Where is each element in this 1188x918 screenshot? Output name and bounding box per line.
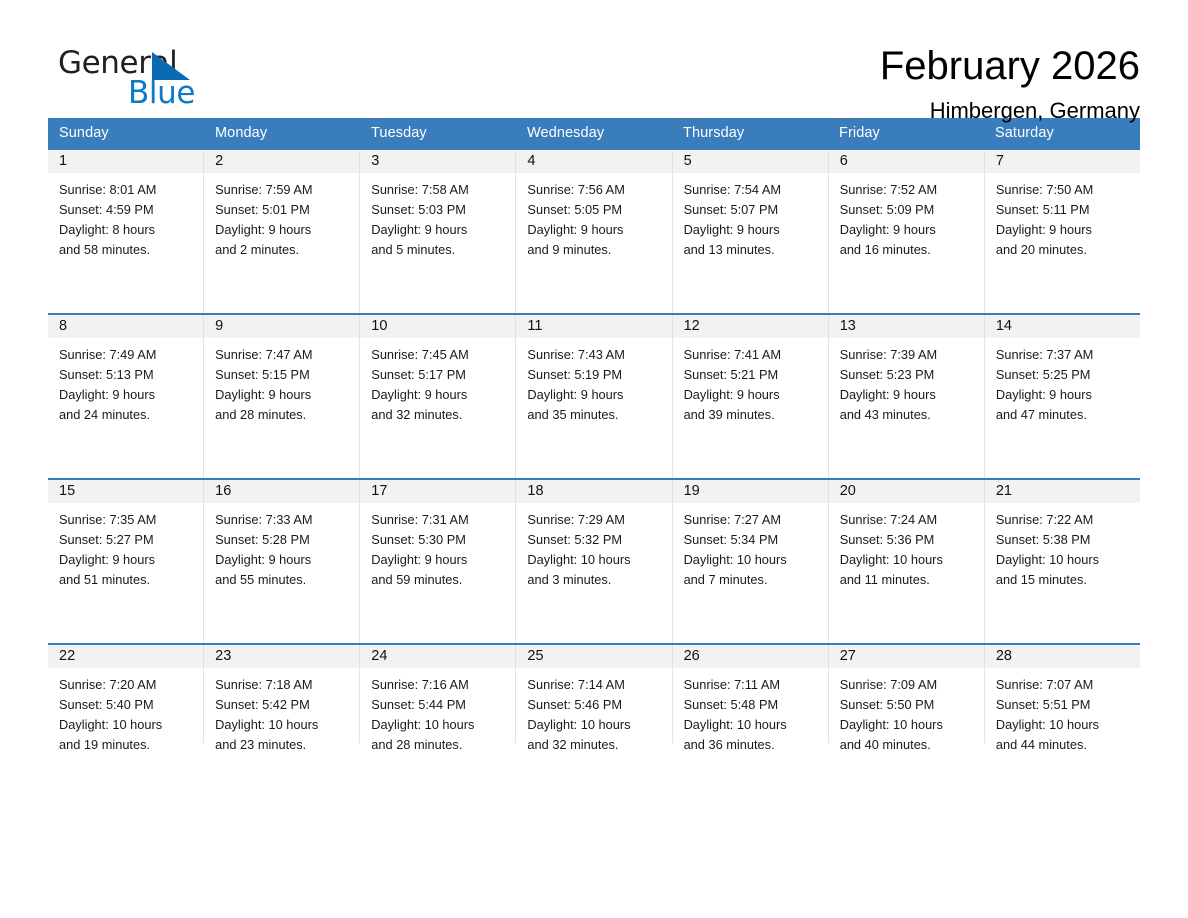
day-cell[interactable]: 9 Sunrise: 7:47 AM Sunset: 5:15 PM Dayli… <box>204 315 360 478</box>
daylight-text-line1: Daylight: 10 hours <box>840 550 978 570</box>
day-number: 1 <box>48 150 203 173</box>
sunrise-text: Sunrise: 7:45 AM <box>371 345 509 365</box>
daylight-text-line1: Daylight: 10 hours <box>371 715 509 735</box>
daylight-text-line1: Daylight: 9 hours <box>371 220 509 240</box>
sunset-text: Sunset: 5:28 PM <box>215 530 353 550</box>
logo-text-blue: Blue <box>128 78 195 109</box>
day-info: Sunrise: 7:45 AM Sunset: 5:17 PM Dayligh… <box>360 338 515 425</box>
sunrise-text: Sunrise: 7:20 AM <box>59 675 197 695</box>
sunrise-text: Sunrise: 7:39 AM <box>840 345 978 365</box>
daylight-text-line1: Daylight: 10 hours <box>840 715 978 735</box>
day-cell[interactable]: 26 Sunrise: 7:11 AM Sunset: 5:48 PM Dayl… <box>673 645 829 743</box>
sunset-text: Sunset: 5:03 PM <box>371 200 509 220</box>
sunrise-text: Sunrise: 7:41 AM <box>684 345 822 365</box>
day-cell[interactable]: 27 Sunrise: 7:09 AM Sunset: 5:50 PM Dayl… <box>829 645 985 743</box>
sunset-text: Sunset: 5:07 PM <box>684 200 822 220</box>
day-number: 10 <box>360 315 515 338</box>
daylight-text-line2: and 58 minutes. <box>59 240 197 260</box>
daylight-text-line2: and 15 minutes. <box>996 570 1134 590</box>
day-number: 20 <box>829 480 984 503</box>
day-number: 22 <box>48 645 203 668</box>
weekday-header-sunday: Sunday <box>48 125 204 141</box>
daylight-text-line2: and 2 minutes. <box>215 240 353 260</box>
day-info: Sunrise: 7:41 AM Sunset: 5:21 PM Dayligh… <box>673 338 828 425</box>
sunrise-text: Sunrise: 7:14 AM <box>527 675 665 695</box>
daylight-text-line1: Daylight: 9 hours <box>371 385 509 405</box>
daylight-text-line1: Daylight: 9 hours <box>840 220 978 240</box>
daylight-text-line1: Daylight: 9 hours <box>215 385 353 405</box>
day-number: 23 <box>204 645 359 668</box>
sunset-text: Sunset: 5:44 PM <box>371 695 509 715</box>
page-header: General Blue February 2026 Himbergen, Ge… <box>48 0 1140 105</box>
day-cell[interactable]: 6 Sunrise: 7:52 AM Sunset: 5:09 PM Dayli… <box>829 150 985 313</box>
sunset-text: Sunset: 5:23 PM <box>840 365 978 385</box>
day-number: 19 <box>673 480 828 503</box>
sunrise-text: Sunrise: 7:58 AM <box>371 180 509 200</box>
day-cell[interactable]: 16 Sunrise: 7:33 AM Sunset: 5:28 PM Dayl… <box>204 480 360 643</box>
general-blue-logo[interactable]: General Blue <box>48 42 228 112</box>
daylight-text-line2: and 32 minutes. <box>371 405 509 425</box>
weekday-header-saturday: Saturday <box>984 125 1140 141</box>
daylight-text-line2: and 47 minutes. <box>996 405 1134 425</box>
week-row: 22 Sunrise: 7:20 AM Sunset: 5:40 PM Dayl… <box>48 643 1140 743</box>
day-number: 12 <box>673 315 828 338</box>
day-cell[interactable]: 12 Sunrise: 7:41 AM Sunset: 5:21 PM Dayl… <box>673 315 829 478</box>
day-number: 11 <box>516 315 671 338</box>
sunrise-text: Sunrise: 7:50 AM <box>996 180 1134 200</box>
day-cell[interactable]: 10 Sunrise: 7:45 AM Sunset: 5:17 PM Dayl… <box>360 315 516 478</box>
sunset-text: Sunset: 5:25 PM <box>996 365 1134 385</box>
day-cell[interactable]: 13 Sunrise: 7:39 AM Sunset: 5:23 PM Dayl… <box>829 315 985 478</box>
day-number: 15 <box>48 480 203 503</box>
daylight-text-line2: and 55 minutes. <box>215 570 353 590</box>
day-number: 6 <box>829 150 984 173</box>
day-cell[interactable]: 22 Sunrise: 7:20 AM Sunset: 5:40 PM Dayl… <box>48 645 204 743</box>
week-row: 8 Sunrise: 7:49 AM Sunset: 5:13 PM Dayli… <box>48 313 1140 478</box>
sunrise-text: Sunrise: 7:22 AM <box>996 510 1134 530</box>
daylight-text-line1: Daylight: 9 hours <box>371 550 509 570</box>
day-info: Sunrise: 7:54 AM Sunset: 5:07 PM Dayligh… <box>673 173 828 260</box>
daylight-text-line1: Daylight: 9 hours <box>996 385 1134 405</box>
page-title: February 2026 <box>880 44 1140 89</box>
sunset-text: Sunset: 5:50 PM <box>840 695 978 715</box>
day-number: 14 <box>985 315 1140 338</box>
sunset-text: Sunset: 5:40 PM <box>59 695 197 715</box>
daylight-text-line1: Daylight: 9 hours <box>59 385 197 405</box>
sunset-text: Sunset: 5:21 PM <box>684 365 822 385</box>
day-cell[interactable]: 24 Sunrise: 7:16 AM Sunset: 5:44 PM Dayl… <box>360 645 516 743</box>
daylight-text-line1: Daylight: 9 hours <box>527 385 665 405</box>
day-number: 3 <box>360 150 515 173</box>
daylight-text-line1: Daylight: 9 hours <box>684 220 822 240</box>
day-number: 7 <box>985 150 1140 173</box>
day-info: Sunrise: 7:49 AM Sunset: 5:13 PM Dayligh… <box>48 338 203 425</box>
sunset-text: Sunset: 5:48 PM <box>684 695 822 715</box>
sunrise-text: Sunrise: 7:54 AM <box>684 180 822 200</box>
sunrise-text: Sunrise: 7:52 AM <box>840 180 978 200</box>
day-number: 9 <box>204 315 359 338</box>
sunset-text: Sunset: 5:01 PM <box>215 200 353 220</box>
calendar-page: General Blue February 2026 Himbergen, Ge… <box>0 0 1188 918</box>
daylight-text-line1: Daylight: 10 hours <box>527 715 665 735</box>
daylight-text-line2: and 5 minutes. <box>371 240 509 260</box>
sunset-text: Sunset: 5:11 PM <box>996 200 1134 220</box>
daylight-text-line1: Daylight: 10 hours <box>527 550 665 570</box>
day-info: Sunrise: 7:59 AM Sunset: 5:01 PM Dayligh… <box>204 173 359 260</box>
daylight-text-line1: Daylight: 9 hours <box>840 385 978 405</box>
day-info: Sunrise: 7:56 AM Sunset: 5:05 PM Dayligh… <box>516 173 671 260</box>
day-number: 8 <box>48 315 203 338</box>
day-cell[interactable]: 28 Sunrise: 7:07 AM Sunset: 5:51 PM Dayl… <box>985 645 1140 743</box>
day-info: Sunrise: 7:24 AM Sunset: 5:36 PM Dayligh… <box>829 503 984 590</box>
day-cell[interactable]: 5 Sunrise: 7:54 AM Sunset: 5:07 PM Dayli… <box>673 150 829 313</box>
sunset-text: Sunset: 5:46 PM <box>527 695 665 715</box>
day-cell[interactable]: 17 Sunrise: 7:31 AM Sunset: 5:30 PM Dayl… <box>360 480 516 643</box>
day-number: 21 <box>985 480 1140 503</box>
day-cell[interactable]: 18 Sunrise: 7:29 AM Sunset: 5:32 PM Dayl… <box>516 480 672 643</box>
sunrise-text: Sunrise: 8:01 AM <box>59 180 197 200</box>
daylight-text-line2: and 16 minutes. <box>840 240 978 260</box>
day-info: Sunrise: 7:29 AM Sunset: 5:32 PM Dayligh… <box>516 503 671 590</box>
sunrise-text: Sunrise: 7:11 AM <box>684 675 822 695</box>
daylight-text-line1: Daylight: 9 hours <box>215 220 353 240</box>
daylight-text-line2: and 20 minutes. <box>996 240 1134 260</box>
daylight-text-line2: and 7 minutes. <box>684 570 822 590</box>
day-info: Sunrise: 7:43 AM Sunset: 5:19 PM Dayligh… <box>516 338 671 425</box>
day-number: 16 <box>204 480 359 503</box>
day-number: 4 <box>516 150 671 173</box>
daylight-text-line2: and 40 minutes. <box>840 735 978 755</box>
weekday-header-friday: Friday <box>828 125 984 141</box>
sunrise-text: Sunrise: 7:49 AM <box>59 345 197 365</box>
daylight-text-line1: Daylight: 10 hours <box>215 715 353 735</box>
weekday-header-monday: Monday <box>204 125 360 141</box>
sunset-text: Sunset: 5:27 PM <box>59 530 197 550</box>
weekday-header-tuesday: Tuesday <box>360 125 516 141</box>
day-cell[interactable]: 23 Sunrise: 7:18 AM Sunset: 5:42 PM Dayl… <box>204 645 360 743</box>
sunset-text: Sunset: 5:32 PM <box>527 530 665 550</box>
calendar-grid: Sunday Monday Tuesday Wednesday Thursday… <box>48 118 1140 743</box>
sunset-text: Sunset: 4:59 PM <box>59 200 197 220</box>
daylight-text-line2: and 24 minutes. <box>59 405 197 425</box>
daylight-text-line2: and 51 minutes. <box>59 570 197 590</box>
day-number: 24 <box>360 645 515 668</box>
sunrise-text: Sunrise: 7:33 AM <box>215 510 353 530</box>
sunset-text: Sunset: 5:19 PM <box>527 365 665 385</box>
daylight-text-line2: and 3 minutes. <box>527 570 665 590</box>
daylight-text-line2: and 44 minutes. <box>996 735 1134 755</box>
daylight-text-line2: and 9 minutes. <box>527 240 665 260</box>
day-number: 18 <box>516 480 671 503</box>
daylight-text-line2: and 43 minutes. <box>840 405 978 425</box>
daylight-text-line1: Daylight: 9 hours <box>684 385 822 405</box>
day-cell[interactable]: 25 Sunrise: 7:14 AM Sunset: 5:46 PM Dayl… <box>516 645 672 743</box>
day-info: Sunrise: 7:39 AM Sunset: 5:23 PM Dayligh… <box>829 338 984 425</box>
sunset-text: Sunset: 5:13 PM <box>59 365 197 385</box>
day-info: Sunrise: 7:11 AM Sunset: 5:48 PM Dayligh… <box>673 668 828 755</box>
sunset-text: Sunset: 5:42 PM <box>215 695 353 715</box>
day-cell[interactable]: 20 Sunrise: 7:24 AM Sunset: 5:36 PM Dayl… <box>829 480 985 643</box>
day-cell[interactable]: 3 Sunrise: 7:58 AM Sunset: 5:03 PM Dayli… <box>360 150 516 313</box>
day-info: Sunrise: 7:37 AM Sunset: 5:25 PM Dayligh… <box>985 338 1140 425</box>
day-cell[interactable]: 8 Sunrise: 7:49 AM Sunset: 5:13 PM Dayli… <box>48 315 204 478</box>
sunset-text: Sunset: 5:17 PM <box>371 365 509 385</box>
day-info: Sunrise: 7:47 AM Sunset: 5:15 PM Dayligh… <box>204 338 359 425</box>
weekday-header-wednesday: Wednesday <box>516 125 672 141</box>
day-info: Sunrise: 7:09 AM Sunset: 5:50 PM Dayligh… <box>829 668 984 755</box>
sunset-text: Sunset: 5:15 PM <box>215 365 353 385</box>
day-number: 26 <box>673 645 828 668</box>
sunset-text: Sunset: 5:38 PM <box>996 530 1134 550</box>
sunrise-text: Sunrise: 7:43 AM <box>527 345 665 365</box>
day-cell[interactable]: 14 Sunrise: 7:37 AM Sunset: 5:25 PM Dayl… <box>985 315 1140 478</box>
sunrise-text: Sunrise: 7:47 AM <box>215 345 353 365</box>
sunrise-text: Sunrise: 7:07 AM <box>996 675 1134 695</box>
daylight-text-line1: Daylight: 10 hours <box>996 715 1134 735</box>
sunrise-text: Sunrise: 7:18 AM <box>215 675 353 695</box>
day-cell[interactable]: 19 Sunrise: 7:27 AM Sunset: 5:34 PM Dayl… <box>673 480 829 643</box>
day-number: 13 <box>829 315 984 338</box>
daylight-text-line2: and 32 minutes. <box>527 735 665 755</box>
sunset-text: Sunset: 5:30 PM <box>371 530 509 550</box>
daylight-text-line1: Daylight: 10 hours <box>684 715 822 735</box>
week-row: 15 Sunrise: 7:35 AM Sunset: 5:27 PM Dayl… <box>48 478 1140 643</box>
sunrise-text: Sunrise: 7:29 AM <box>527 510 665 530</box>
daylight-text-line2: and 36 minutes. <box>684 735 822 755</box>
daylight-text-line1: Daylight: 10 hours <box>996 550 1134 570</box>
sunrise-text: Sunrise: 7:27 AM <box>684 510 822 530</box>
sunset-text: Sunset: 5:05 PM <box>527 200 665 220</box>
day-info: Sunrise: 7:35 AM Sunset: 5:27 PM Dayligh… <box>48 503 203 590</box>
daylight-text-line1: Daylight: 10 hours <box>684 550 822 570</box>
day-number: 2 <box>204 150 359 173</box>
daylight-text-line2: and 28 minutes. <box>215 405 353 425</box>
sunset-text: Sunset: 5:09 PM <box>840 200 978 220</box>
day-info: Sunrise: 7:22 AM Sunset: 5:38 PM Dayligh… <box>985 503 1140 590</box>
day-info: Sunrise: 7:27 AM Sunset: 5:34 PM Dayligh… <box>673 503 828 590</box>
day-number: 25 <box>516 645 671 668</box>
day-info: Sunrise: 7:16 AM Sunset: 5:44 PM Dayligh… <box>360 668 515 755</box>
daylight-text-line2: and 23 minutes. <box>215 735 353 755</box>
day-info: Sunrise: 7:58 AM Sunset: 5:03 PM Dayligh… <box>360 173 515 260</box>
sunrise-text: Sunrise: 7:35 AM <box>59 510 197 530</box>
daylight-text-line2: and 39 minutes. <box>684 405 822 425</box>
day-number: 27 <box>829 645 984 668</box>
day-cell[interactable]: 7 Sunrise: 7:50 AM Sunset: 5:11 PM Dayli… <box>985 150 1140 313</box>
location-subtitle: Himbergen, Germany <box>880 98 1140 124</box>
day-info: Sunrise: 7:31 AM Sunset: 5:30 PM Dayligh… <box>360 503 515 590</box>
daylight-text-line1: Daylight: 9 hours <box>215 550 353 570</box>
day-info: Sunrise: 7:18 AM Sunset: 5:42 PM Dayligh… <box>204 668 359 755</box>
daylight-text-line2: and 35 minutes. <box>527 405 665 425</box>
day-cell[interactable]: 1 Sunrise: 8:01 AM Sunset: 4:59 PM Dayli… <box>48 150 204 313</box>
daylight-text-line2: and 13 minutes. <box>684 240 822 260</box>
daylight-text-line1: Daylight: 9 hours <box>996 220 1134 240</box>
daylight-text-line1: Daylight: 9 hours <box>527 220 665 240</box>
sunset-text: Sunset: 5:51 PM <box>996 695 1134 715</box>
sunrise-text: Sunrise: 7:59 AM <box>215 180 353 200</box>
day-number: 28 <box>985 645 1140 668</box>
day-number: 17 <box>360 480 515 503</box>
daylight-text-line1: Daylight: 9 hours <box>59 550 197 570</box>
sunrise-text: Sunrise: 7:09 AM <box>840 675 978 695</box>
daylight-text-line2: and 59 minutes. <box>371 570 509 590</box>
day-info: Sunrise: 7:07 AM Sunset: 5:51 PM Dayligh… <box>985 668 1140 755</box>
day-number: 5 <box>673 150 828 173</box>
daylight-text-line1: Daylight: 8 hours <box>59 220 197 240</box>
sunset-text: Sunset: 5:36 PM <box>840 530 978 550</box>
day-cell[interactable]: 2 Sunrise: 7:59 AM Sunset: 5:01 PM Dayli… <box>204 150 360 313</box>
day-cell[interactable]: 21 Sunrise: 7:22 AM Sunset: 5:38 PM Dayl… <box>985 480 1140 643</box>
day-info: Sunrise: 7:14 AM Sunset: 5:46 PM Dayligh… <box>516 668 671 755</box>
sunset-text: Sunset: 5:34 PM <box>684 530 822 550</box>
day-info: Sunrise: 7:20 AM Sunset: 5:40 PM Dayligh… <box>48 668 203 755</box>
day-cell[interactable]: 15 Sunrise: 7:35 AM Sunset: 5:27 PM Dayl… <box>48 480 204 643</box>
day-cell[interactable]: 11 Sunrise: 7:43 AM Sunset: 5:19 PM Dayl… <box>516 315 672 478</box>
sunrise-text: Sunrise: 7:24 AM <box>840 510 978 530</box>
sunrise-text: Sunrise: 7:16 AM <box>371 675 509 695</box>
day-info: Sunrise: 7:52 AM Sunset: 5:09 PM Dayligh… <box>829 173 984 260</box>
title-block: February 2026 Himbergen, Germany <box>880 42 1140 124</box>
daylight-text-line2: and 28 minutes. <box>371 735 509 755</box>
week-row: 1 Sunrise: 8:01 AM Sunset: 4:59 PM Dayli… <box>48 148 1140 313</box>
day-info: Sunrise: 8:01 AM Sunset: 4:59 PM Dayligh… <box>48 173 203 260</box>
daylight-text-line2: and 11 minutes. <box>840 570 978 590</box>
day-cell[interactable]: 4 Sunrise: 7:56 AM Sunset: 5:05 PM Dayli… <box>516 150 672 313</box>
sunrise-text: Sunrise: 7:31 AM <box>371 510 509 530</box>
weekday-header-thursday: Thursday <box>672 125 828 141</box>
daylight-text-line2: and 19 minutes. <box>59 735 197 755</box>
sunrise-text: Sunrise: 7:56 AM <box>527 180 665 200</box>
daylight-text-line1: Daylight: 10 hours <box>59 715 197 735</box>
day-info: Sunrise: 7:50 AM Sunset: 5:11 PM Dayligh… <box>985 173 1140 260</box>
sunrise-text: Sunrise: 7:37 AM <box>996 345 1134 365</box>
day-info: Sunrise: 7:33 AM Sunset: 5:28 PM Dayligh… <box>204 503 359 590</box>
